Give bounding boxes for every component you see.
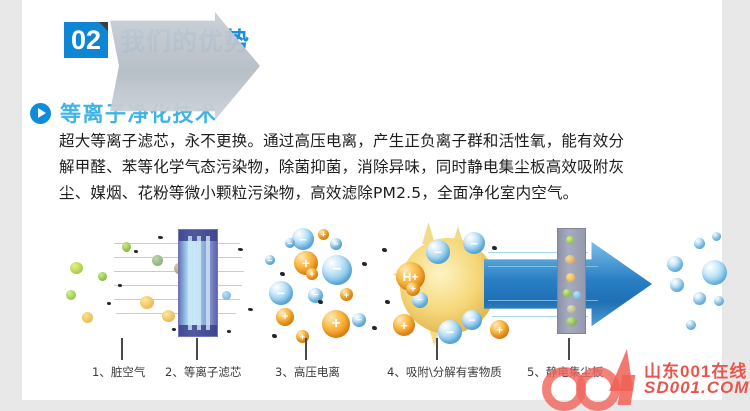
positive-ion: + xyxy=(296,330,309,343)
positive-ion: + xyxy=(276,308,294,326)
electrostatic-dust-plate xyxy=(557,228,586,334)
dust-speck xyxy=(280,272,285,276)
airflow-line xyxy=(114,243,240,244)
positive-ion: + xyxy=(322,310,350,338)
cartridge-rod xyxy=(188,236,192,330)
positive-ion: + xyxy=(318,229,329,240)
clean-air-bubble xyxy=(693,292,706,305)
caption-tick xyxy=(121,338,123,360)
germ-icon xyxy=(122,242,131,252)
negative-ion: − xyxy=(265,255,275,265)
negative-ion: − xyxy=(438,320,462,344)
negative-ion: − xyxy=(462,310,482,330)
negative-ion: − xyxy=(292,228,314,250)
negative-ion: − xyxy=(330,238,342,250)
caption-4: 4、吸附\分解有害物质 xyxy=(387,364,502,380)
paragraph-line-2: 解甲醛、苯等化学气态污染物，除菌抑菌，消除异味，同时静电集尘板高效吸附灰 xyxy=(59,154,689,180)
section-number-badge: 02 xyxy=(64,22,108,58)
clean-air-bubble xyxy=(667,256,683,272)
caption-tick xyxy=(196,338,198,360)
paragraph-line-3: 尘、媒烟、花粉等微小颗粒污染物，高效滤除PM2.5，全面净化室内空气。 xyxy=(59,180,689,206)
paragraph-line-1: 超大等离子滤芯，永不更换。通过高压电离，产生正负离子群和活性氧，能有效分 xyxy=(59,128,689,154)
caption-2: 2、等离子滤芯 xyxy=(165,364,241,380)
cartridge-rod xyxy=(197,236,201,330)
play-triangle-icon xyxy=(38,108,46,118)
germ-icon xyxy=(70,262,83,274)
germ-icon xyxy=(82,312,93,323)
clean-air-bubble xyxy=(694,238,705,249)
dust-speck xyxy=(158,236,163,239)
caption-tick xyxy=(568,338,570,360)
trapped-germ-icon xyxy=(573,291,581,299)
germ-icon xyxy=(152,255,163,266)
play-circle-icon xyxy=(30,103,51,124)
positive-ion: + xyxy=(490,320,509,339)
negative-ion: − xyxy=(269,281,293,305)
airflow-line xyxy=(114,299,240,300)
caption-1: 1、脏空气 xyxy=(92,364,145,380)
negative-ion: − xyxy=(352,313,366,327)
negative-ion: − xyxy=(322,255,352,285)
dust-speck xyxy=(238,248,243,251)
germ-icon xyxy=(98,272,107,281)
negative-ion: − xyxy=(285,238,295,248)
positive-ion: + xyxy=(306,268,318,280)
dust-speck xyxy=(362,262,367,266)
clean-air-bubble xyxy=(670,278,684,292)
dust-speck xyxy=(107,302,111,305)
dust-speck xyxy=(372,326,377,330)
trapped-germ-icon xyxy=(566,273,575,282)
plasma-filter-cartridge xyxy=(178,229,218,337)
germ-icon xyxy=(162,310,175,322)
germ-icon xyxy=(222,291,231,300)
dust-speck xyxy=(172,328,176,331)
slide-page: 02 我们的优势 等离子净化技术 超大等离子滤芯，永不更换。通过高压电离，产生正… xyxy=(22,0,722,400)
trapped-germ-icon xyxy=(563,289,571,297)
germ-icon xyxy=(140,296,154,309)
dust-speck xyxy=(227,330,231,333)
dust-speck xyxy=(134,250,138,253)
dust-speck xyxy=(492,246,497,250)
negative-ion: − xyxy=(426,240,450,264)
caption-tick xyxy=(436,338,438,360)
body-paragraph: 超大等离子滤芯，永不更换。通过高压电离，产生正负离子群和活性氧，能有效分 解甲醛… xyxy=(59,128,689,206)
trapped-germ-icon xyxy=(566,236,574,244)
negative-ion: − xyxy=(463,232,485,254)
caption-3: 3、高压电离 xyxy=(275,364,340,380)
dust-speck xyxy=(272,334,277,338)
cartridge-rod xyxy=(206,236,210,330)
clean-air-bubble xyxy=(712,232,721,241)
germ-icon xyxy=(66,290,76,300)
trapped-germ-icon xyxy=(566,317,577,326)
caption-5: 5、静电集尘板 xyxy=(527,364,603,380)
badge-fold-corner xyxy=(99,22,108,31)
dust-speck xyxy=(248,308,253,311)
positive-ion: + xyxy=(393,314,415,336)
diagram-captions: 1、脏空气 2、等离子滤芯 3、高压电离 4、吸附\分解有害物质 5、静电集尘板 xyxy=(22,364,722,386)
clean-air-bubble xyxy=(686,320,696,330)
clean-air-bubble xyxy=(702,260,727,285)
dust-speck xyxy=(382,248,387,252)
positive-ion: + xyxy=(340,288,353,301)
section-number: 02 xyxy=(71,27,101,54)
trapped-germ-icon xyxy=(567,305,576,313)
dust-speck xyxy=(118,284,122,287)
caption-tick xyxy=(305,338,307,360)
dust-speck xyxy=(318,300,323,304)
positive-ion: + xyxy=(406,282,420,296)
airflow-line xyxy=(116,313,236,314)
dust-speck xyxy=(385,300,390,304)
clean-air-bubble xyxy=(714,296,724,306)
trapped-germ-icon xyxy=(565,255,575,264)
